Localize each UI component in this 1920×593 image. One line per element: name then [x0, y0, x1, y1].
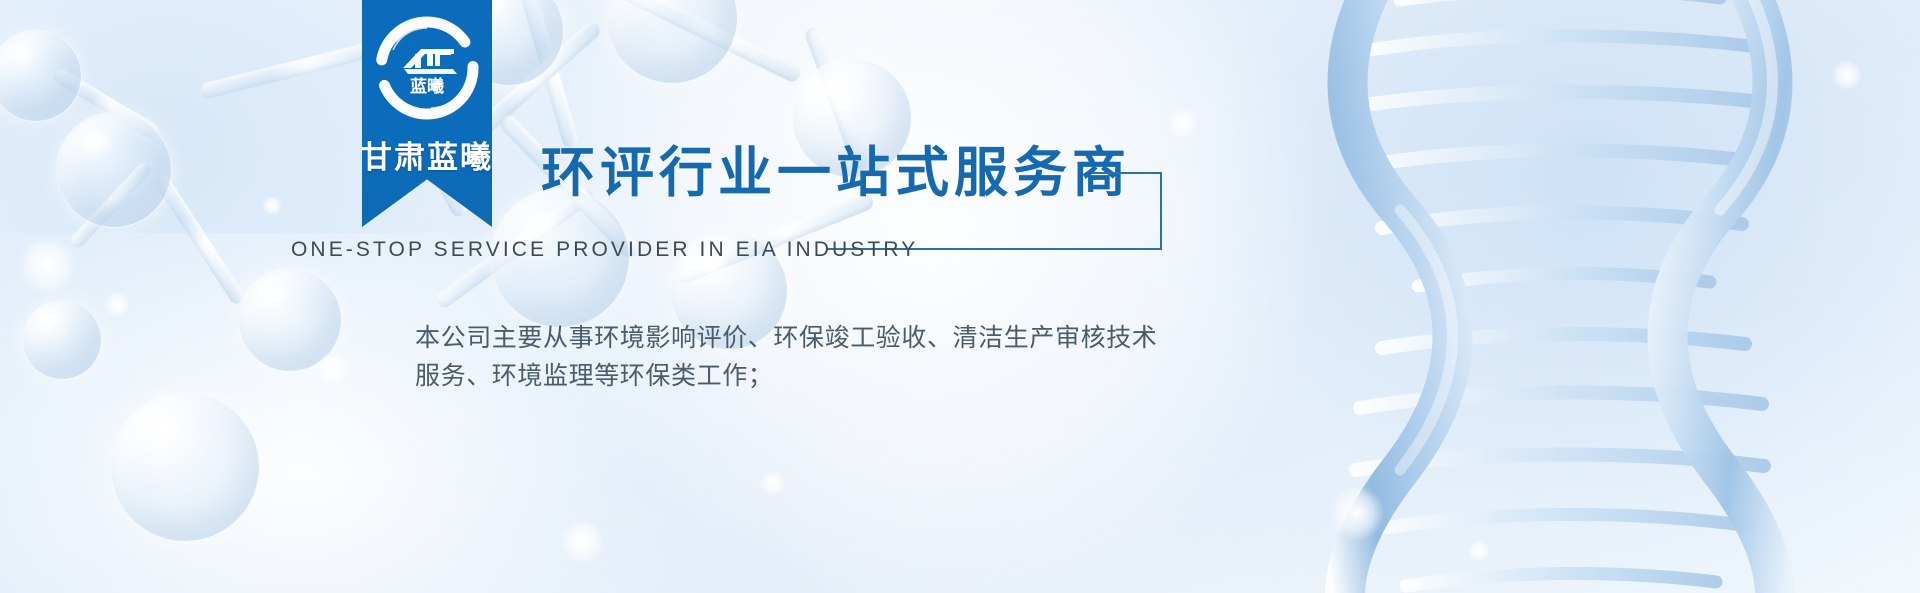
- bokeh-dot: [1468, 540, 1490, 562]
- company-name: 甘肃蓝曦: [361, 132, 493, 177]
- bokeh-dot: [104, 292, 130, 318]
- company-logo-icon: 蓝曦: [375, 16, 479, 120]
- logo-mark-text: 蓝曦: [410, 76, 444, 96]
- title-bracket-top: [1092, 172, 1162, 174]
- bokeh-dot: [560, 520, 604, 564]
- background-wash-bottom: [0, 233, 760, 593]
- page-subtitle: ONE-STOP SERVICE PROVIDER IN EIA INDUSTR…: [291, 238, 918, 262]
- description-line-1: 本公司主要从事环境影响评价、环保竣工验收、清洁生产审核技术: [415, 320, 1195, 358]
- company-description: 本公司主要从事环境影响评价、环保竣工验收、清洁生产审核技术 服务、环境监理等环保…: [415, 320, 1195, 396]
- bokeh-dot: [262, 196, 282, 216]
- hero-banner: 蓝曦 甘肃蓝曦 环评行业一站式服务商 ONE-STOP SERVICE PROV…: [0, 0, 1920, 593]
- description-line-2: 服务、环境监理等环保类工作；: [415, 358, 1195, 396]
- bokeh-dot: [760, 470, 786, 496]
- bokeh-dot: [18, 236, 76, 294]
- bokeh-dot: [1330, 486, 1384, 540]
- bokeh-dot: [316, 352, 350, 386]
- logo-mark-svg: 蓝曦: [375, 16, 479, 120]
- bokeh-dot: [1168, 108, 1198, 138]
- bokeh-dot: [1832, 60, 1862, 90]
